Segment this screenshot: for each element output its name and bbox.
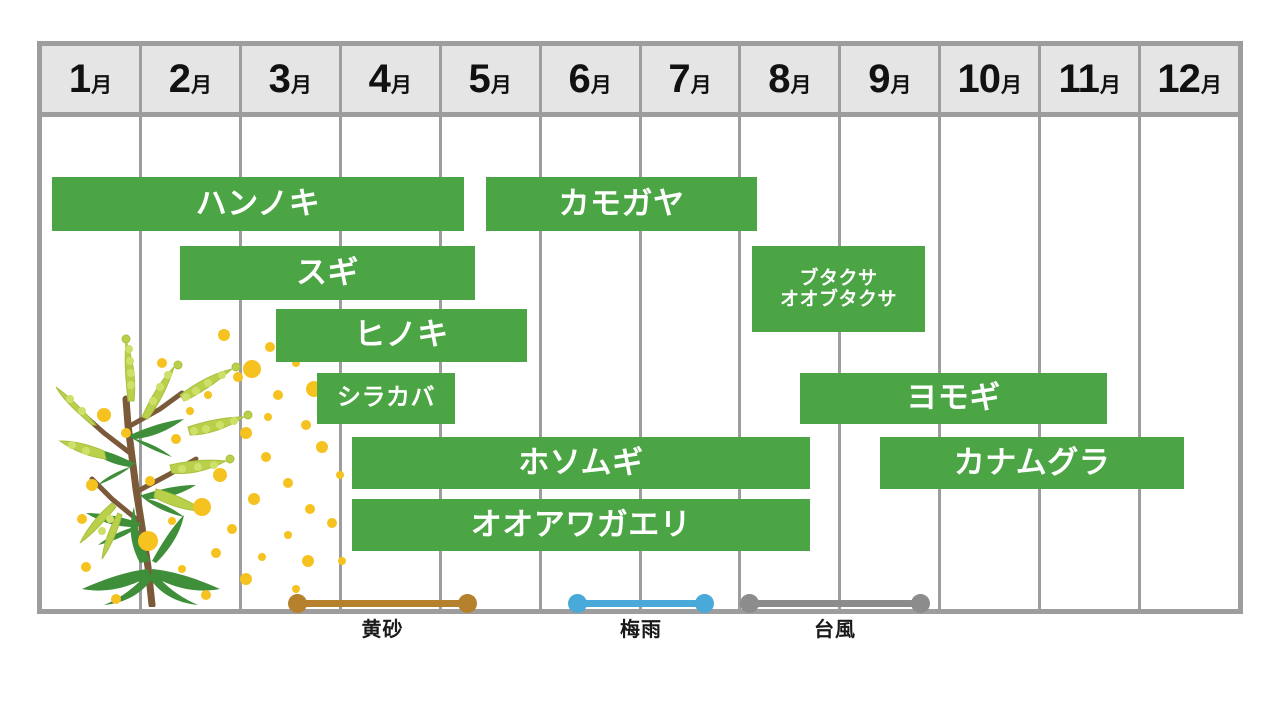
season-start-dot: [568, 594, 587, 613]
season-label: 黄砂: [290, 613, 475, 642]
month-header-cell: 3月: [242, 46, 342, 112]
month-header-cell: 7月: [642, 46, 742, 112]
month-number: 12: [1157, 59, 1200, 99]
season-label: 梅雨: [570, 613, 712, 642]
month-header-cell: 1月: [42, 46, 142, 112]
month-number: 2: [169, 59, 190, 99]
month-header-cell: 10月: [941, 46, 1041, 112]
season-start-dot: [740, 594, 759, 613]
month-number: 7: [668, 59, 689, 99]
pollen-calendar-chart: 1月2月3月4月5月6月7月8月9月10月11月12月: [37, 41, 1243, 614]
month-number: 5: [469, 59, 490, 99]
month-suffix: 月: [391, 75, 412, 96]
month-header-row: 1月2月3月4月5月6月7月8月9月10月11月12月: [42, 46, 1238, 117]
season-range-line: [570, 600, 712, 607]
month-suffix: 月: [491, 75, 512, 96]
month-suffix: 月: [291, 75, 312, 96]
month-number: 8: [768, 59, 789, 99]
season-start-dot: [288, 594, 307, 613]
month-suffix: 月: [1001, 75, 1022, 96]
season-end-dot: [458, 594, 477, 613]
month-header-cell: 4月: [342, 46, 442, 112]
month-number: 11: [1059, 59, 1099, 99]
month-suffix: 月: [191, 75, 212, 96]
month-number: 3: [269, 59, 290, 99]
month-header-cell: 5月: [442, 46, 542, 112]
month-header-cell: 11月: [1041, 46, 1141, 112]
month-header-cell: 2月: [142, 46, 242, 112]
month-number: 10: [958, 59, 1001, 99]
season-marker[interactable]: 梅雨: [570, 591, 712, 641]
month-header-cell: 8月: [741, 46, 841, 112]
month-number: 9: [868, 59, 889, 99]
month-suffix: 月: [591, 75, 612, 96]
month-number: 1: [69, 59, 90, 99]
calendar-body: ハンノキカモガヤスギブタクサ オオブタクサヒノキヨモギシラカバホソムギカナムグラ…: [42, 117, 1238, 609]
month-suffix: 月: [890, 75, 911, 96]
month-suffix: 月: [1100, 75, 1121, 96]
month-header-cell: 6月: [542, 46, 642, 112]
month-number: 4: [369, 59, 390, 99]
month-header-cell: 12月: [1141, 46, 1238, 112]
month-suffix: 月: [91, 75, 112, 96]
season-label: 台風: [742, 613, 928, 642]
pollen-calendar-page: 1月2月3月4月5月6月7月8月9月10月11月12月: [0, 0, 1280, 720]
month-header-cell: 9月: [841, 46, 941, 112]
season-range-line: [742, 600, 928, 607]
month-suffix: 月: [691, 75, 712, 96]
month-suffix: 月: [1201, 75, 1222, 96]
season-end-dot: [695, 594, 714, 613]
season-marker[interactable]: 台風: [742, 591, 928, 641]
season-markers-layer: 黄砂梅雨台風: [42, 117, 1238, 609]
month-number: 6: [568, 59, 589, 99]
season-marker[interactable]: 黄砂: [290, 591, 475, 641]
season-end-dot: [911, 594, 930, 613]
month-suffix: 月: [791, 75, 812, 96]
season-range-line: [290, 600, 475, 607]
